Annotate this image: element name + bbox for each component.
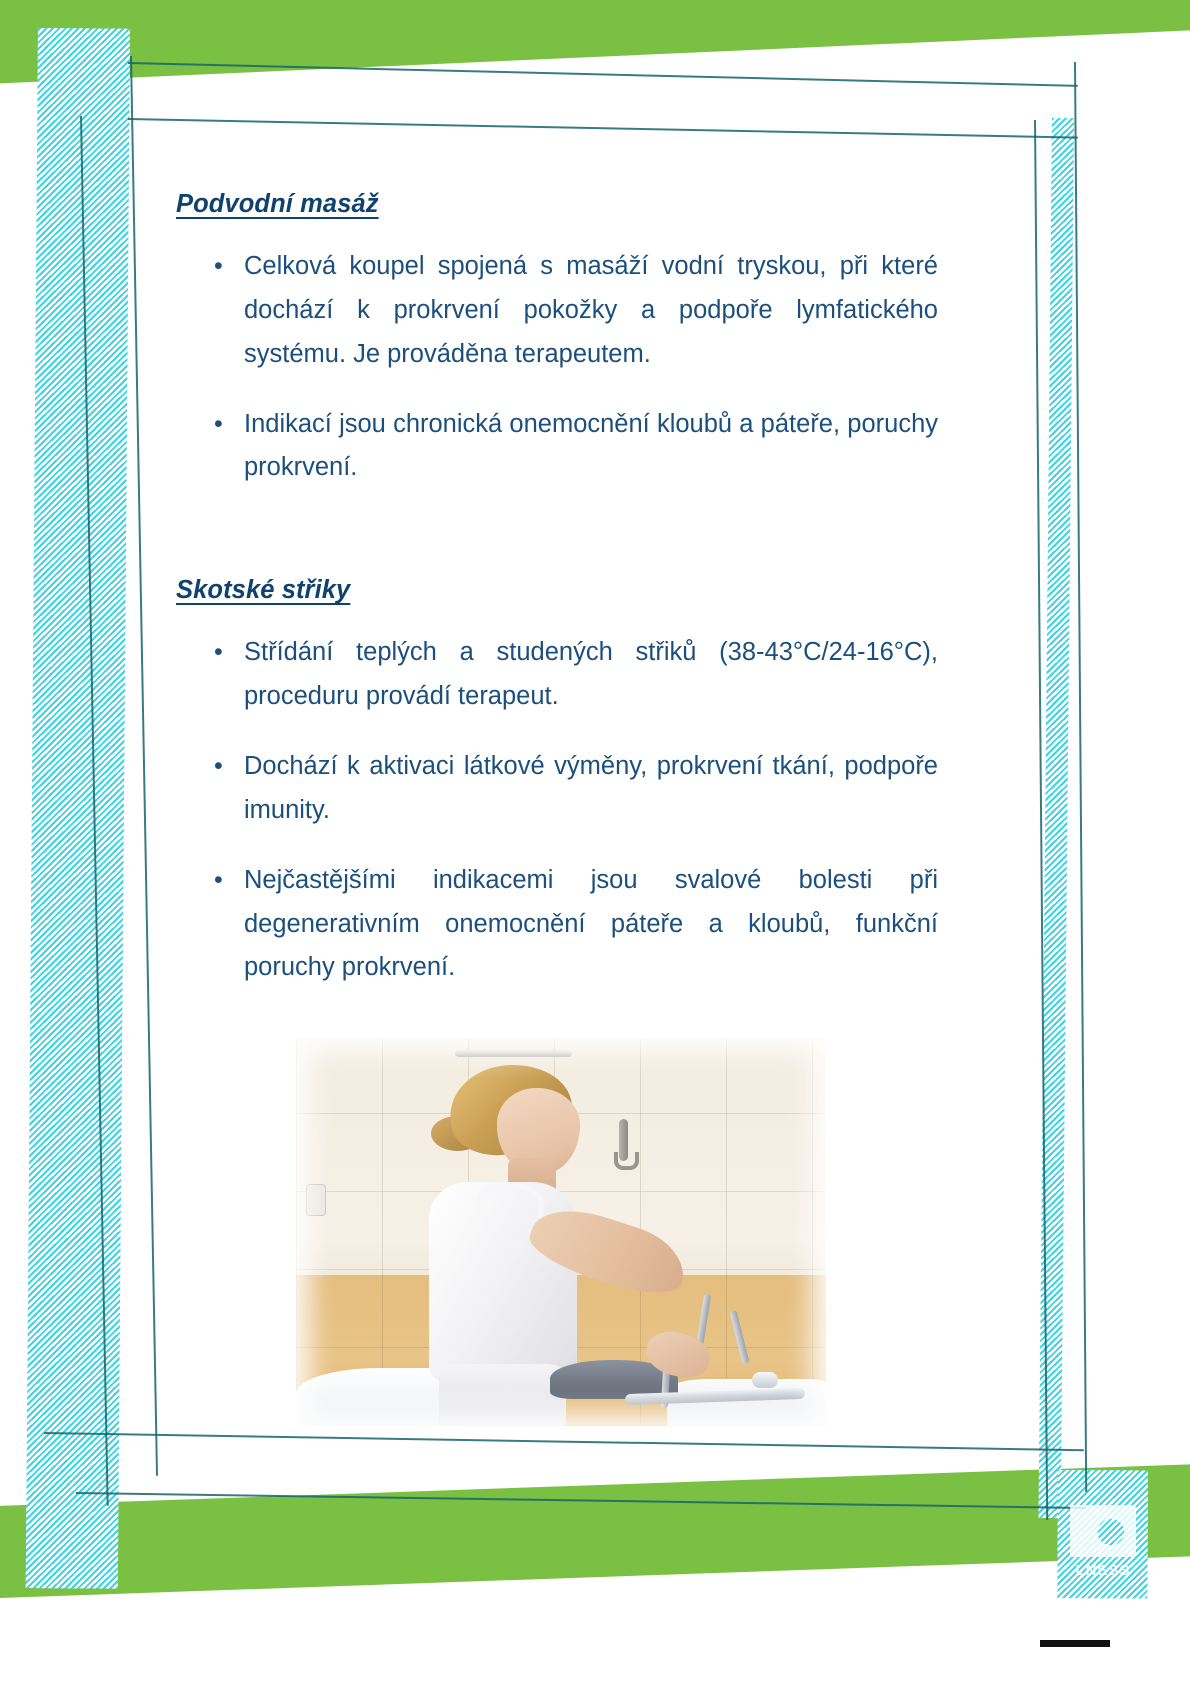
list-item: Střídání teplých a studených střiků (38-… bbox=[176, 631, 938, 719]
bullet-list-podvodni-masaz: Celková koupel spojená s masáží vodní tr… bbox=[176, 245, 938, 490]
list-item: Dochází k aktivaci látkové výměny, prokr… bbox=[176, 745, 938, 833]
section-spacer bbox=[176, 490, 938, 576]
hydrotherapy-photo bbox=[296, 1038, 826, 1426]
photo-switch bbox=[307, 1185, 325, 1215]
list-item: Indikací jsou chronická onemocnění kloub… bbox=[176, 403, 938, 491]
list-item: Celková koupel spojená s masáží vodní tr… bbox=[176, 245, 938, 377]
bullet-list-skotske-striky: Střídání teplých a studených střiků (38-… bbox=[176, 631, 938, 990]
photo-valve bbox=[752, 1372, 778, 1388]
section-heading-podvodni-masaz: Podvodní masáž bbox=[176, 190, 938, 219]
list-item: Nejčastějšími indikacemi jsou svalové bo… bbox=[176, 859, 938, 991]
frame-line-bottom bbox=[44, 1432, 1084, 1451]
document-content: Podvodní masáž Celková koupel spojená s … bbox=[176, 190, 938, 990]
frame-line-right-outer bbox=[1074, 62, 1087, 1492]
hatched-stripe-logo-block bbox=[1057, 1470, 1148, 1598]
green-band-bottom bbox=[0, 1461, 1190, 1600]
photo-wall-hook bbox=[619, 1119, 628, 1161]
photo-figure bbox=[296, 1038, 826, 1426]
hatched-stripe-left bbox=[26, 28, 130, 1589]
frame-line-left bbox=[130, 56, 158, 1476]
frame-line-top-inner bbox=[128, 118, 1078, 138]
document-page: LNESS Podvodní masáž Celková koupel spoj… bbox=[0, 0, 1190, 1683]
photo-person-trousers bbox=[439, 1364, 566, 1426]
frame-line-top bbox=[128, 62, 1078, 86]
photo-rail bbox=[455, 1050, 572, 1057]
section-heading-skotske-striky: Skotské střiky bbox=[176, 576, 938, 605]
page-corner-tick bbox=[1040, 1640, 1110, 1647]
